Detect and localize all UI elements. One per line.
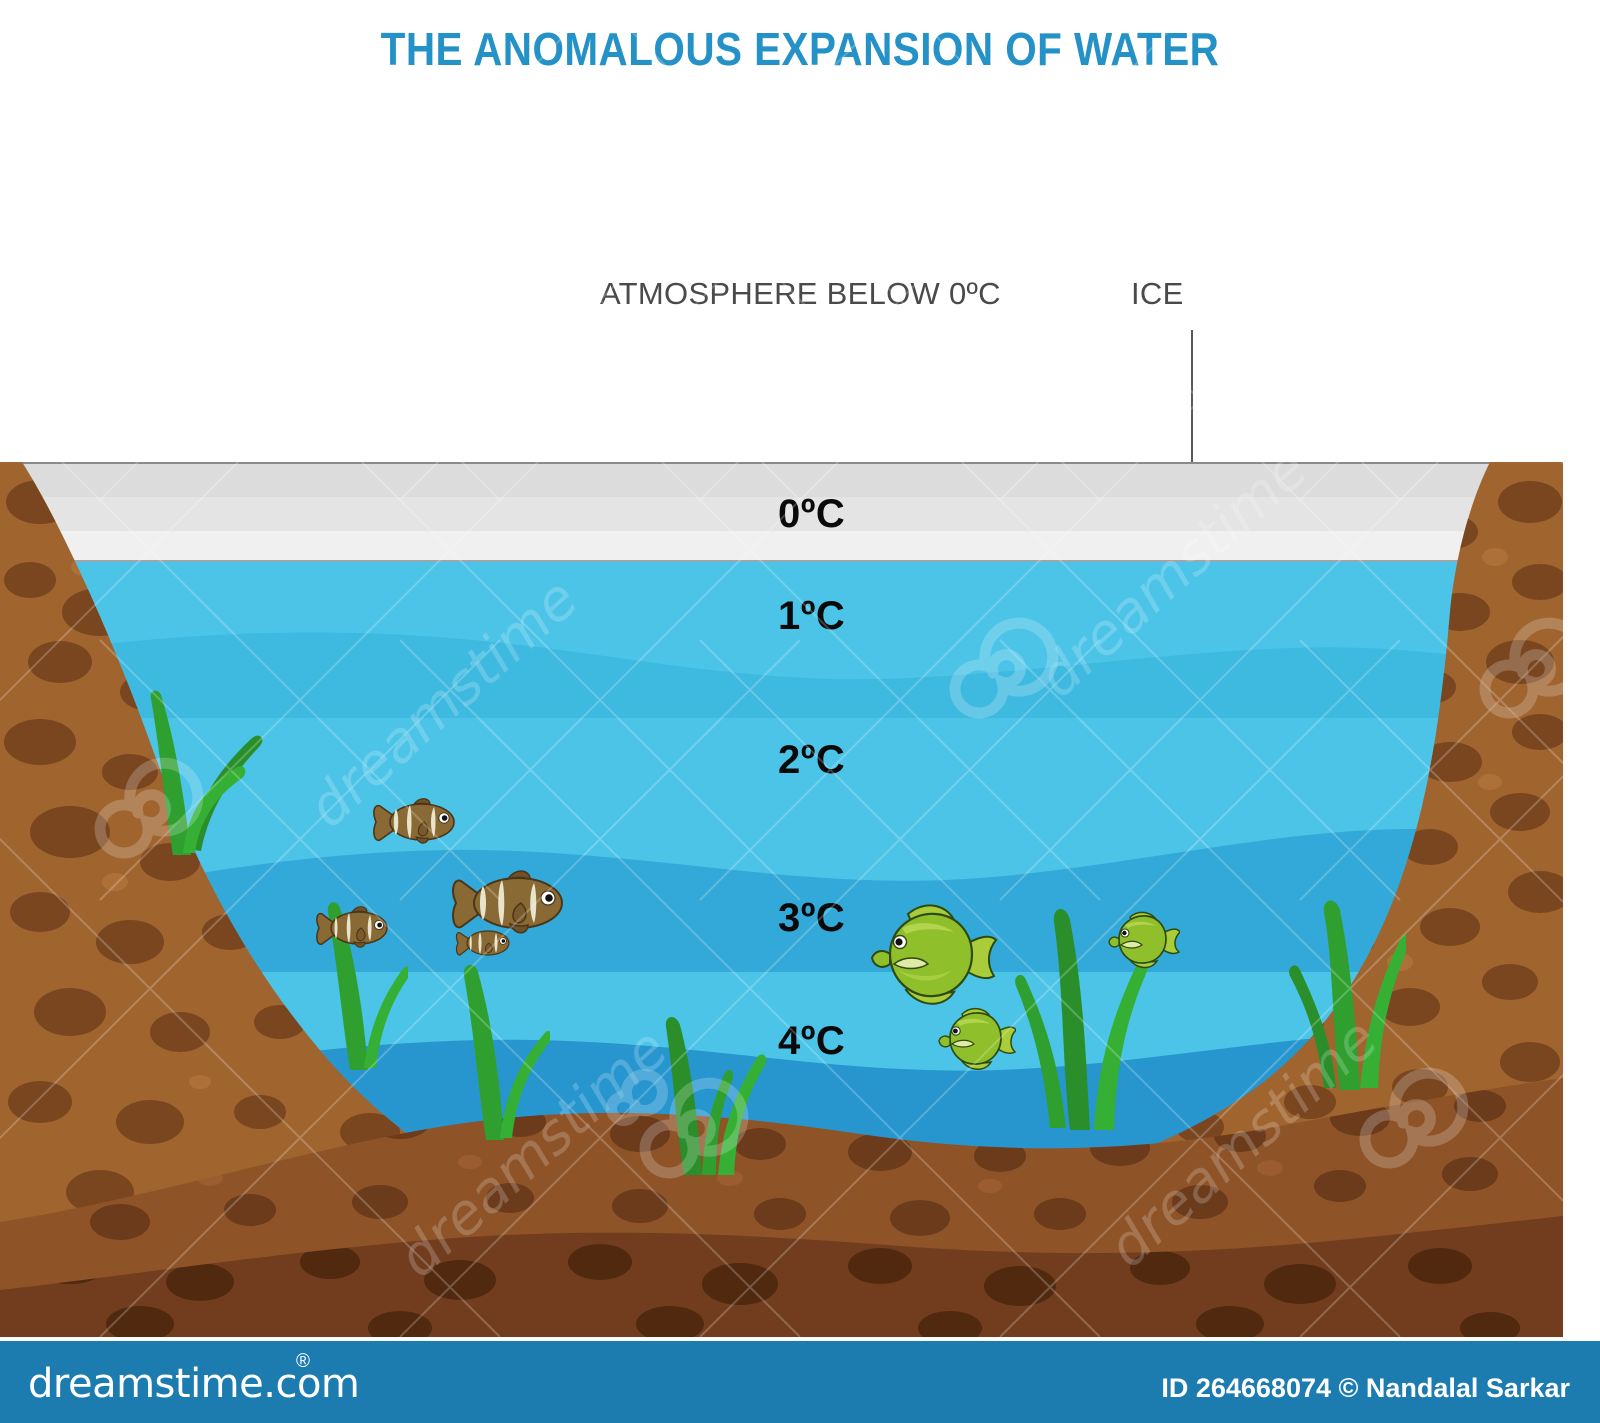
green-fish-medium bbox=[936, 1002, 1016, 1076]
seaweed-far-right bbox=[1276, 862, 1406, 1092]
atmosphere-label: ATMOSPHERE BELOW 0ºC bbox=[600, 276, 1001, 312]
temperature-label-1: 1ºC bbox=[778, 594, 845, 639]
svg-text:dreamstime: dreamstime bbox=[0, 136, 240, 410]
illustration-canvas: THE ANOMALOUS EXPANSION OF WATER ATMOSPH… bbox=[0, 0, 1600, 1423]
clownfish-upper bbox=[372, 790, 460, 854]
image-credit: ID 264668074 © Nandalal Sarkar bbox=[1161, 1373, 1570, 1404]
registered-mark-icon: ® bbox=[296, 1351, 310, 1373]
page-title: THE ANOMALOUS EXPANSION OF WATER bbox=[96, 22, 1504, 76]
seaweed-left-upper bbox=[135, 677, 275, 857]
temperature-label-3: 3ºC bbox=[778, 896, 845, 941]
temperature-label-2: 2ºC bbox=[778, 738, 845, 783]
green-fish-large bbox=[868, 894, 1000, 1016]
seaweed-center bbox=[430, 952, 550, 1142]
seaweed-mid-pair bbox=[640, 997, 770, 1177]
footer-bar: dreamstime.com ® ID 264668074 © Nandalal… bbox=[0, 1341, 1600, 1423]
green-fish-small bbox=[1106, 906, 1180, 974]
temperature-label-0: 0ºC bbox=[778, 492, 845, 537]
ice-label: ICE bbox=[1131, 276, 1184, 312]
temperature-label-4: 4ºC bbox=[778, 1019, 845, 1064]
clownfish-tiny bbox=[455, 922, 513, 964]
clownfish-left-small bbox=[315, 900, 393, 956]
